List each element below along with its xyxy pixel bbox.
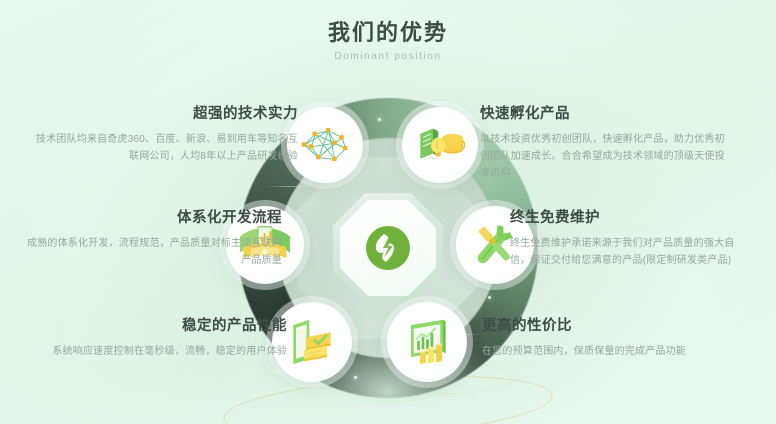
feature-title: 稳定的产品性能 xyxy=(15,316,287,336)
company-logo-icon xyxy=(365,225,411,271)
feature-text-stable-performance: 稳定的产品性能 系统响应速度控制在毫秒级，流畅，稳定的用户体验 xyxy=(15,316,287,360)
mobile-chat-check-icon xyxy=(286,318,338,366)
spark-dot xyxy=(378,118,381,121)
feature-text-better-value: 更高的性价比 在您的预算范围内，保质保量的完成产品功能 xyxy=(482,316,732,360)
feature-text-fast-incubation: 快速孵化产品 以技术投资优秀初创团队，快速孵化产品，助力优秀初创团队加速成长。合… xyxy=(480,104,730,182)
page-subtitle: Dominant position xyxy=(0,50,776,64)
coins-lightbulb-icon xyxy=(415,123,465,168)
hub-hairline xyxy=(266,186,312,187)
page-title: 我们的优势 xyxy=(0,18,776,48)
feature-description: 以技术投资优秀初创团队，快速孵化产品，助力优秀初创团队加速成长。合合希望成为技术… xyxy=(480,131,730,182)
feature-text-lifetime-maintenance: 终生免费维护 终生免费维护承诺来源于我们对产品质量的强大自信，保证交付给您满意的… xyxy=(510,208,746,269)
feature-icon-bubble-better-value[interactable] xyxy=(387,302,467,382)
page-header: 我们的优势 Dominant position xyxy=(0,18,776,64)
feature-text-tech-strength: 超强的技术实力 技术团队均来自奇虎360、百度、新浪、易到用车等知名互联网公司，… xyxy=(30,104,298,165)
feature-icon-bubble-tech-strength[interactable] xyxy=(287,107,363,183)
feature-icon-bubble-fast-incubation[interactable] xyxy=(402,107,478,183)
feature-title: 更高的性价比 xyxy=(482,316,732,336)
feature-text-systematic-process: 体系化开发流程 成熟的体系化开发，流程规范，产品质量对标主流互联网产品质量 xyxy=(20,208,282,269)
spark-dot xyxy=(488,296,491,299)
bar-chart-board-icon xyxy=(402,318,452,366)
feature-title: 体系化开发流程 xyxy=(20,208,282,228)
network-graph-icon xyxy=(299,125,351,165)
feature-description: 终生免费维护承诺来源于我们对产品质量的强大自信，保证交付给您满意的产品(限定制研… xyxy=(510,235,746,269)
feature-title: 快速孵化产品 xyxy=(480,104,730,124)
spark-dot xyxy=(354,376,357,379)
feature-description: 在您的预算范围内，保质保量的完成产品功能 xyxy=(482,343,732,360)
feature-title: 超强的技术实力 xyxy=(30,104,298,124)
feature-description: 技术团队均来自奇虎360、百度、新浪、易到用车等知名互联网公司，人均8年以上产品… xyxy=(30,131,298,165)
feature-title: 终生免费维护 xyxy=(510,208,746,228)
feature-description: 系统响应速度控制在毫秒级，流畅，稳定的用户体验 xyxy=(15,343,287,360)
feature-description: 成熟的体系化开发，流程规范，产品质量对标主流互联网产品质量 xyxy=(20,235,282,269)
